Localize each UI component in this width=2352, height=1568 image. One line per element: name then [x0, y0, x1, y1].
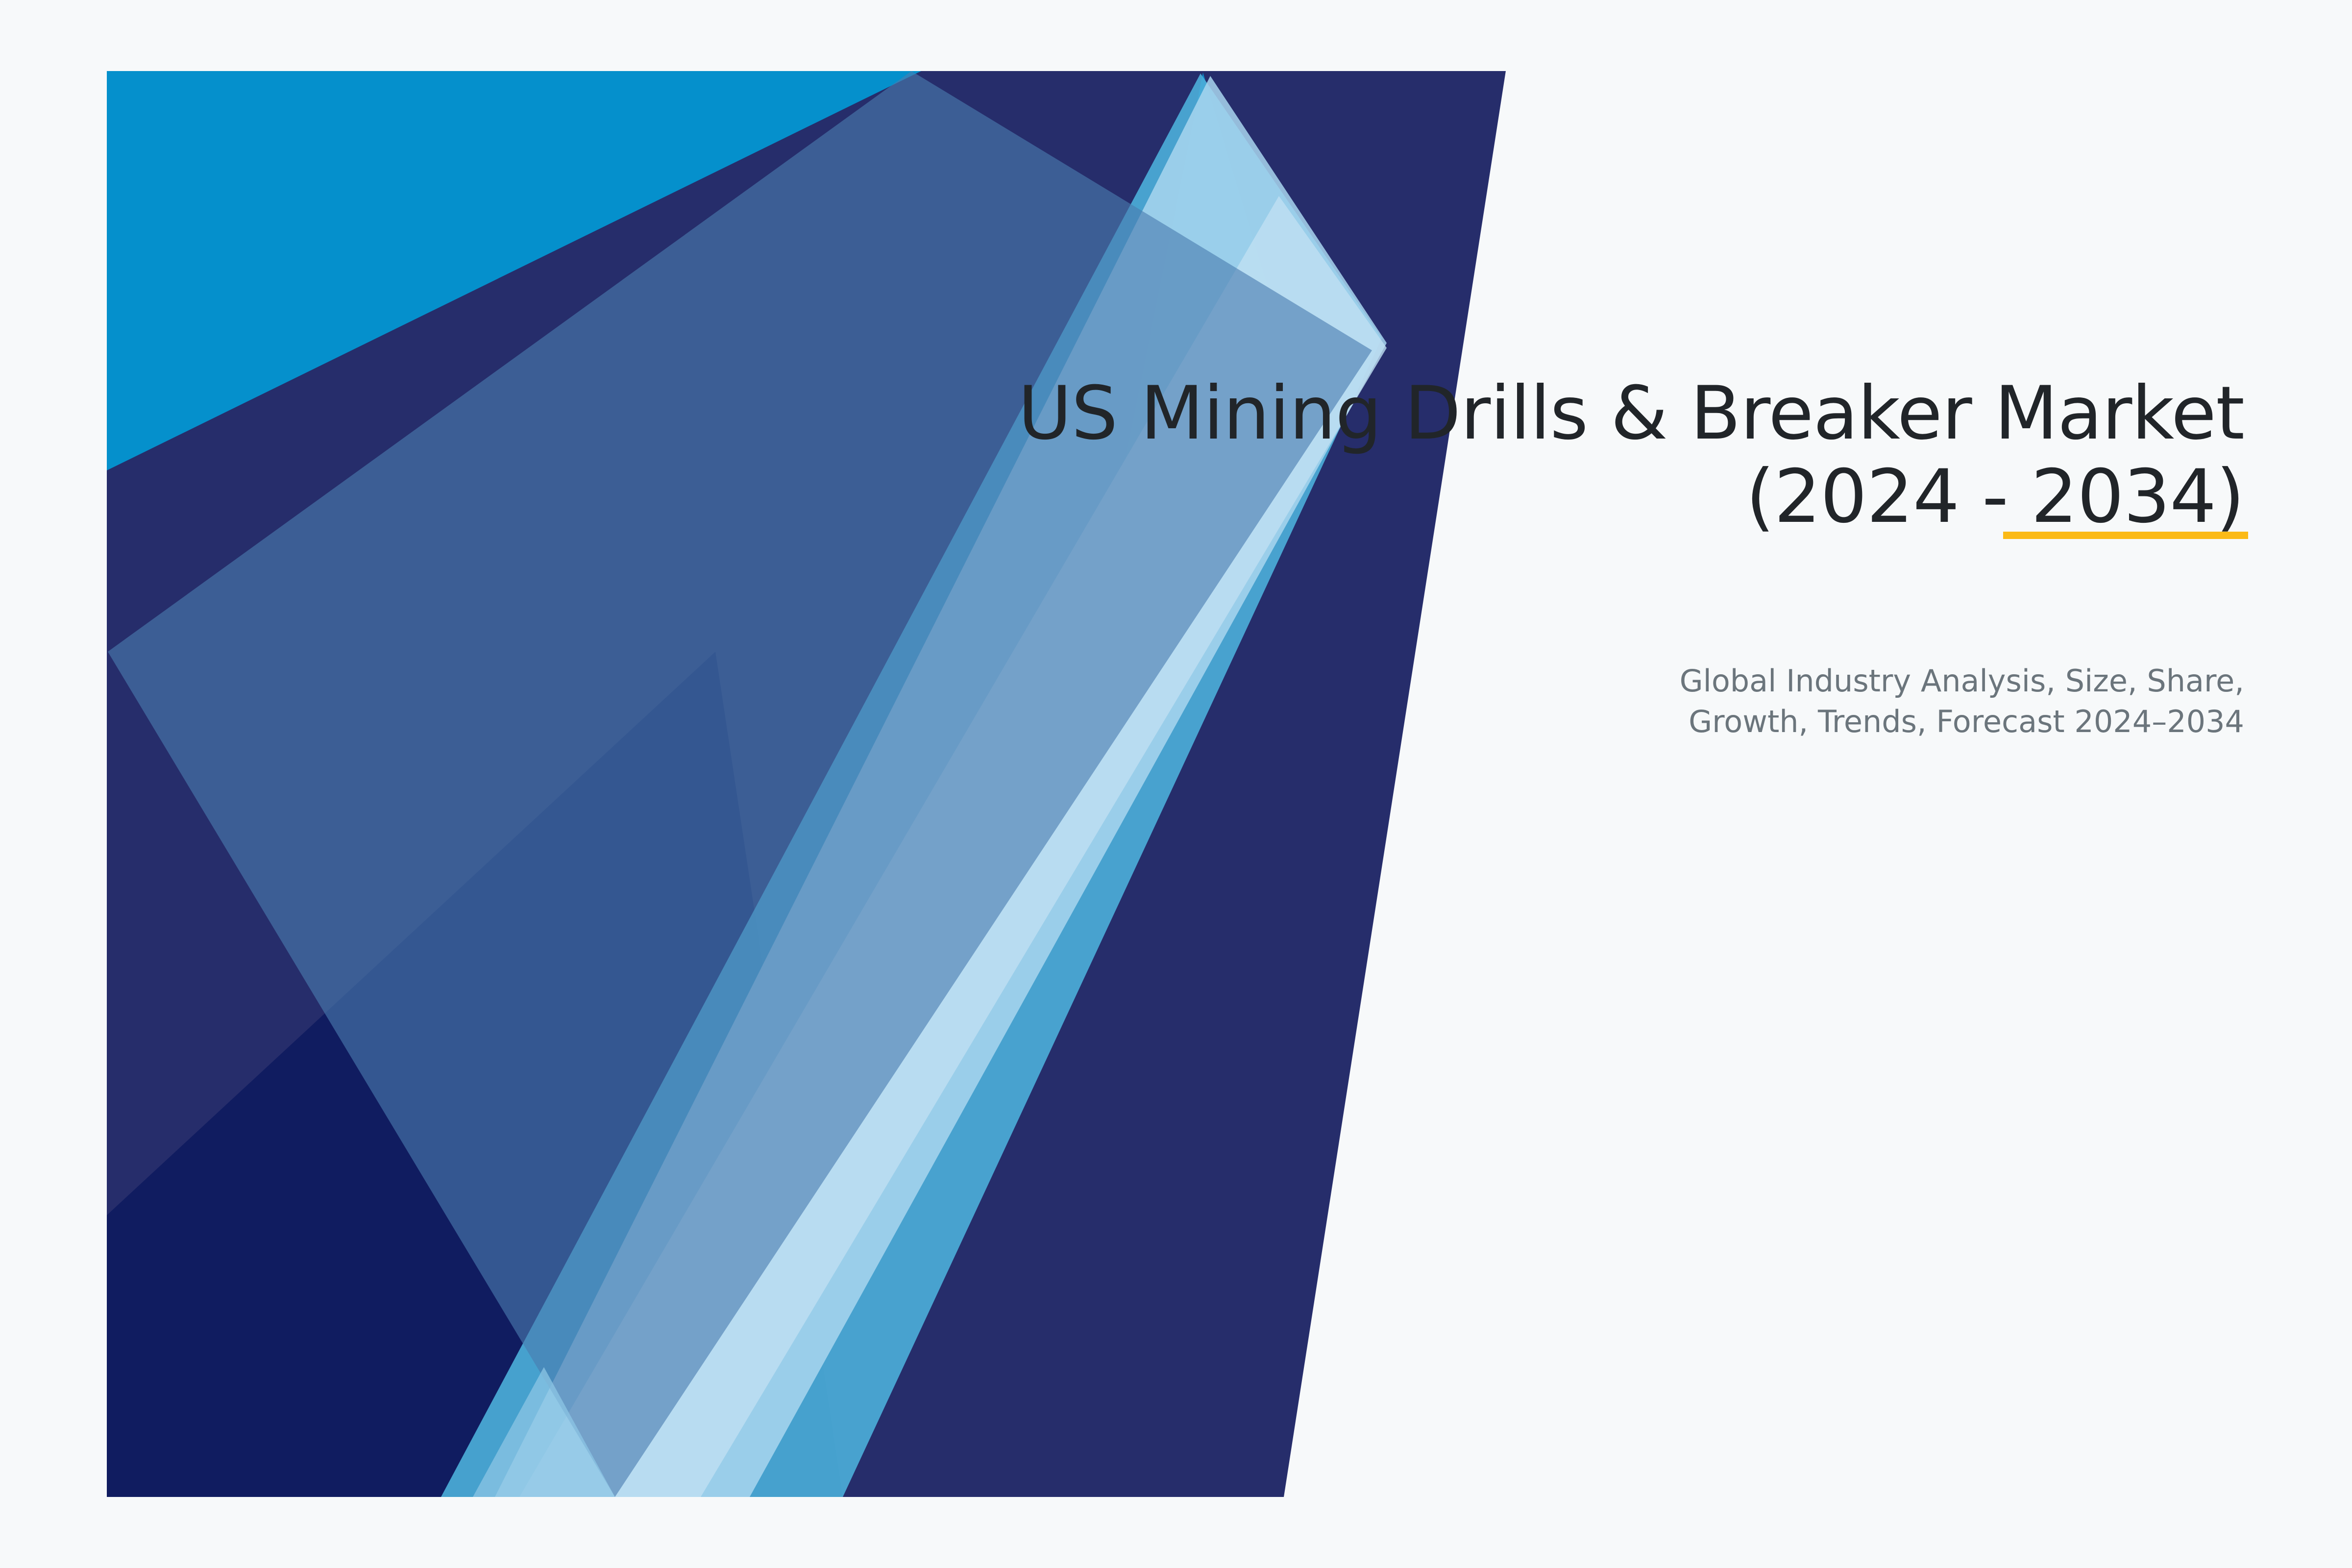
abstract-geometric-artwork [0, 0, 2352, 1568]
title-accent-underline [2003, 532, 2248, 539]
page-title: US Mining Drills & Breaker Market (2024 … [931, 372, 2244, 539]
cover-text-block: US Mining Drills & Breaker Market (2024 … [931, 372, 2244, 539]
report-cover-page: US Mining Drills & Breaker Market (2024 … [0, 0, 2352, 1568]
page-subtitle: Global Industry Analysis, Size, Share, G… [1558, 661, 2244, 742]
